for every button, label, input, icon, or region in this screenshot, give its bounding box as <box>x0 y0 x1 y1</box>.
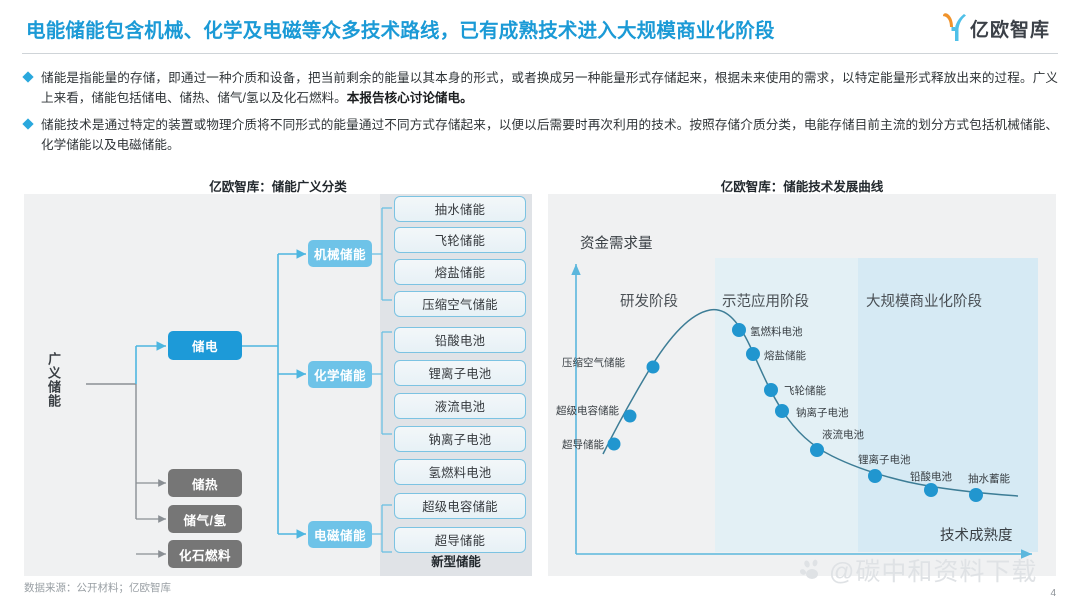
leaf-lilizi-dianchi[interactable]: 锂离子电池 <box>394 360 526 386</box>
x-axis-label: 技术成熟度 <box>940 524 1013 545</box>
point-rongyan-chuneng <box>746 347 760 361</box>
leaf-feilun-chuneng[interactable]: 飞轮储能 <box>394 227 526 253</box>
bullet-text-normal: 储能技术是通过特定的装置或物理介质将不同形式的能量通过不同方式存储起来，以便以后… <box>41 118 1058 152</box>
tree-node-huashi-ranliao[interactable]: 化石燃料 <box>168 540 242 568</box>
bullet-text-bold: 本报告核心讨论储电。 <box>347 91 473 105</box>
tree-root-label: 广义储能 <box>46 352 61 408</box>
point-label-feilun-chuneng: 飞轮储能 <box>784 383 826 398</box>
stage-label-rd: 研发阶段 <box>620 290 678 311</box>
point-label-nalizi-dianchi: 钠离子电池 <box>796 405 849 420</box>
page-title: 电能储能包含机械、化学及电磁等众多技术路线，已有成熟技术进入大规模商业化阶段 <box>26 14 775 43</box>
point-label-yasuo-kongqi: 压缩空气储能 <box>562 355 625 370</box>
leaf-chaodao-chuneng[interactable]: 超导储能 <box>394 527 526 553</box>
page-number: 4 <box>1050 588 1056 599</box>
yiou-sprout-icon <box>940 10 970 44</box>
tree-node-jixie-chuneng[interactable]: 机械储能 <box>308 240 372 267</box>
stage-label-commercial: 大规模商业化阶段 <box>866 290 982 311</box>
point-label-lilizi-dianchi: 锂离子电池 <box>858 452 911 467</box>
watermark-text: @碳中和资料下载 <box>829 552 1037 588</box>
point-feilun-chuneng <box>764 383 778 397</box>
leaf-yeliu-dianchi[interactable]: 液流电池 <box>394 393 526 419</box>
diamond-bullet-icon <box>22 118 33 129</box>
leaf-yasuo-kongqi[interactable]: 压缩空气储能 <box>394 291 526 317</box>
leaf-rongyan-chuneng[interactable]: 熔盐储能 <box>394 259 526 285</box>
point-label-chaodao-chuneng: 超导储能 <box>562 437 604 452</box>
new-type-storage-caption: 新型储能 <box>380 552 532 570</box>
point-qiansuan-dianchi <box>924 483 938 497</box>
source-note: 数据来源：公开材料；亿欧智库 <box>24 580 171 595</box>
point-yeliu-dianchi <box>810 443 824 457</box>
diamond-bullet-icon <box>22 71 33 82</box>
tree-node-chuqi-qing[interactable]: 储气/氢 <box>168 505 242 533</box>
baidu-paw-icon <box>800 557 826 583</box>
point-nalizi-dianchi <box>775 404 789 418</box>
header-divider <box>22 53 1058 54</box>
brand-logo: 亿欧智库 <box>940 8 1058 48</box>
slide-page: 电能储能包含机械、化学及电磁等众多技术路线，已有成熟技术进入大规模商业化阶段 亿… <box>0 0 1080 607</box>
storage-classification-diagram: 广义储能 储电 储热 储气/氢 化石燃料 机械储能 化学储能 电磁储能 抽水储能… <box>24 194 532 576</box>
tree-node-huaxue-chuneng[interactable]: 化学储能 <box>308 361 372 388</box>
leaf-chaoji-diannong[interactable]: 超级电容储能 <box>394 493 526 519</box>
tree-node-chure[interactable]: 储热 <box>168 469 242 497</box>
point-chouhui-xuneng <box>969 488 983 502</box>
right-panel-title: 亿欧智库：储能技术发展曲线 <box>548 176 1056 195</box>
point-lilizi-dianchi <box>868 469 882 483</box>
point-label-chouhui-xuneng: 抽水蓄能 <box>968 471 1010 486</box>
bullet-item: 储能技术是通过特定的装置或物理介质将不同形式的能量通过不同方式存储起来，以便以后… <box>24 115 1058 155</box>
point-label-chaoji-diannong: 超级电容储能 <box>556 403 619 418</box>
leaf-qingranliao-dianchi[interactable]: 氢燃料电池 <box>394 459 526 485</box>
point-label-rongyan-chuneng: 熔盐储能 <box>764 348 806 363</box>
left-panel-title: 亿欧智库：储能广义分类 <box>24 176 532 195</box>
tree-graphic: 广义储能 储电 储热 储气/氢 化石燃料 机械储能 化学储能 电磁储能 抽水储能… <box>24 194 532 576</box>
point-chaoji-diannong <box>624 410 637 423</box>
tree-node-diancitchuneng[interactable]: 电磁储能 <box>308 521 372 548</box>
technology-maturity-curve: 资金需求量 技术成熟度 研发阶段 示范应用阶段 大规模商业化阶段 超导储能 超级… <box>548 194 1056 576</box>
bullet-item: 储能是指能量的存储，即通过一种介质和设备，把当前剩余的能量以其本身的形式，或者换… <box>24 68 1058 108</box>
point-yasuo-kongqi <box>647 361 660 374</box>
logo-text: 亿欧智库 <box>970 15 1050 42</box>
point-label-qiansuan-dianchi: 铅酸电池 <box>910 469 952 484</box>
watermark: @碳中和资料下载 <box>800 552 1037 588</box>
bullet-text: 储能是指能量的存储，即通过一种介质和设备，把当前剩余的能量以其本身的形式，或者换… <box>41 68 1058 108</box>
bullet-text-normal: 储能是指能量的存储，即通过一种介质和设备，把当前剩余的能量以其本身的形式，或者换… <box>41 71 1058 105</box>
tree-node-chudian[interactable]: 储电 <box>168 331 242 360</box>
bullet-text: 储能技术是通过特定的装置或物理介质将不同形式的能量通过不同方式存储起来，以便以后… <box>41 115 1058 155</box>
leaf-chouhui-chuneng[interactable]: 抽水储能 <box>394 196 526 222</box>
stage-label-demo: 示范应用阶段 <box>722 290 809 311</box>
leaf-nalizi-dianchi[interactable]: 钠离子电池 <box>394 426 526 452</box>
point-chaodao-chuneng <box>608 438 621 451</box>
point-label-yeliu-dianchi: 液流电池 <box>822 427 864 442</box>
slide-header: 电能储能包含机械、化学及电磁等众多技术路线，已有成熟技术进入大规模商业化阶段 亿… <box>0 0 1080 55</box>
point-label-qingranliao-dianchi: 氢燃料电池 <box>750 324 803 339</box>
y-axis-label: 资金需求量 <box>580 232 653 253</box>
chart-graphic: 资金需求量 技术成熟度 研发阶段 示范应用阶段 大规模商业化阶段 超导储能 超级… <box>548 194 1056 576</box>
point-qingranliao-dianchi <box>732 323 746 337</box>
leaf-qiansuan-dianchi[interactable]: 铅酸电池 <box>394 327 526 353</box>
